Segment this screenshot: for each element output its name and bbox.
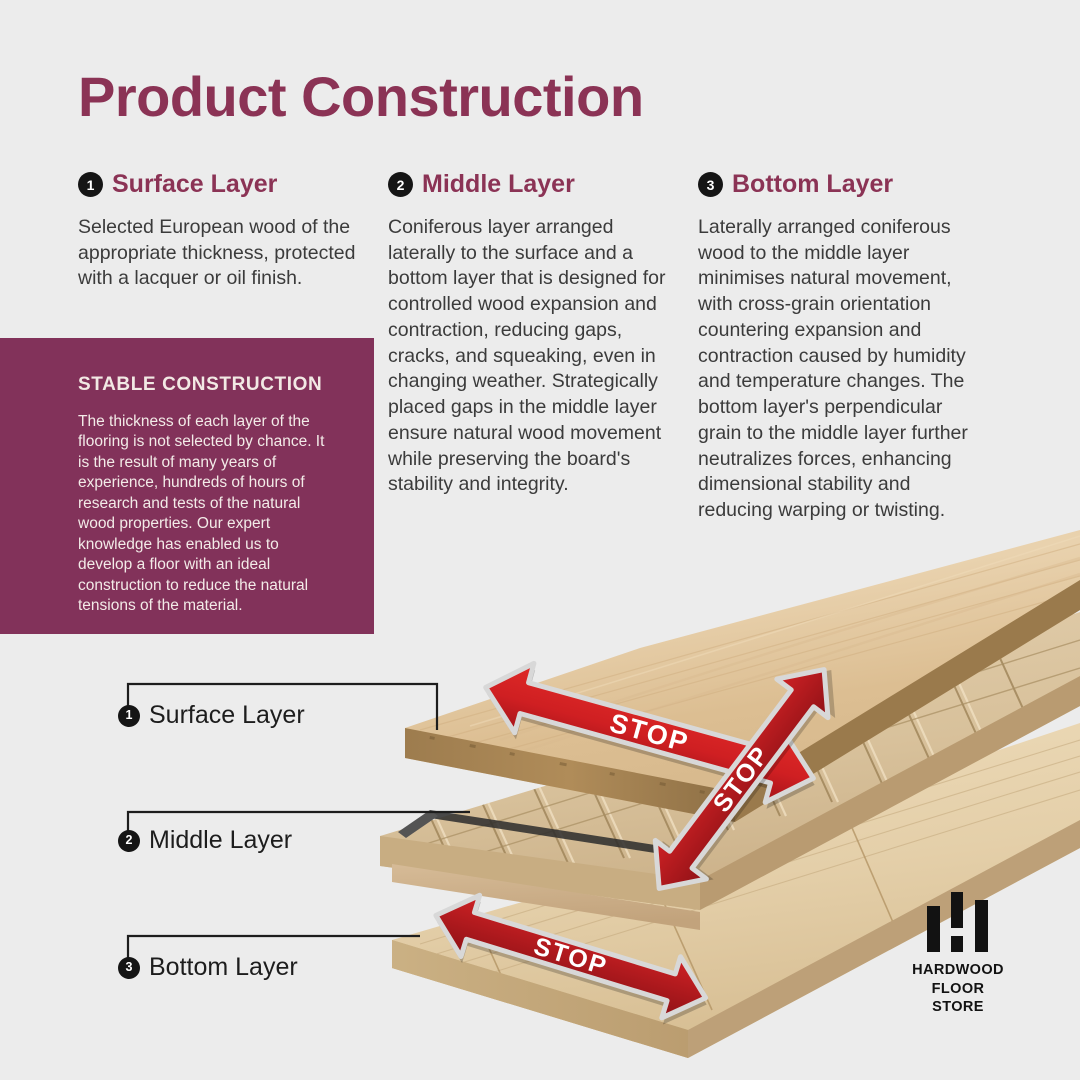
logo-text-line-1: HARDWOOD [906,961,1010,980]
stop-arrow-surface: STOP [475,653,826,820]
column-body-2: Coniferous layer arranged laterally to t… [388,215,676,498]
hardwood-h-icon [925,892,991,952]
stable-construction-body: The thickness of each layer of the floor… [78,412,334,617]
stop-arrow-label-1: STOP [606,708,692,759]
brand-logo: HARDWOOD FLOOR STORE [906,892,1010,1017]
surface-layer-plank [405,530,1080,822]
callout-badge-2: 2 [118,830,140,852]
column-header-3: 3 Bottom Layer [698,170,986,199]
number-badge-2: 2 [388,172,413,197]
logo-bar-mid-top [951,892,963,928]
number-badge-1: 1 [78,172,103,197]
column-body-1: Selected European wood of the appropriat… [78,215,366,292]
callout-surface-layer: 1 Surface Layer [118,701,305,730]
column-title-2: Middle Layer [422,170,575,199]
column-bottom-layer: 3 Bottom Layer Laterally arranged conife… [698,170,1008,524]
column-title-3: Bottom Layer [732,170,893,199]
middle-layer-plank [380,612,1080,930]
column-header-2: 2 Middle Layer [388,170,676,199]
callout-label-2: Middle Layer [149,826,292,855]
stable-construction-title: STABLE CONSTRUCTION [78,374,334,396]
column-title-1: Surface Layer [112,170,277,199]
callout-middle-layer: 2 Middle Layer [118,826,292,855]
stop-arrow-label-3: STOP [530,932,611,981]
logo-bar-mid-bottom [951,936,963,952]
column-header-1: 1 Surface Layer [78,170,366,199]
logo-bar-right [975,900,988,952]
callout-label-1: Surface Layer [149,701,305,730]
logo-text-line-2: FLOOR STORE [906,980,1010,1017]
stable-construction-panel: STABLE CONSTRUCTION The thickness of eac… [0,338,374,634]
stop-arrow-middle: STOP [634,647,857,911]
infographic-canvas: STOP STOP STOP Product Construction [0,0,1080,1080]
column-body-3: Laterally arranged coniferous wood to th… [698,215,986,524]
logo-bar-left [927,906,940,952]
stop-arrow-bottom: STOP [425,885,718,1035]
callout-badge-3: 3 [118,957,140,979]
stop-arrow-label-2: STOP [708,740,776,817]
callout-label-3: Bottom Layer [149,953,298,982]
page-title: Product Construction [78,68,644,127]
column-middle-layer: 2 Middle Layer Coniferous layer arranged… [388,170,698,524]
number-badge-3: 3 [698,172,723,197]
callout-bottom-layer: 3 Bottom Layer [118,953,298,982]
callout-badge-1: 1 [118,705,140,727]
